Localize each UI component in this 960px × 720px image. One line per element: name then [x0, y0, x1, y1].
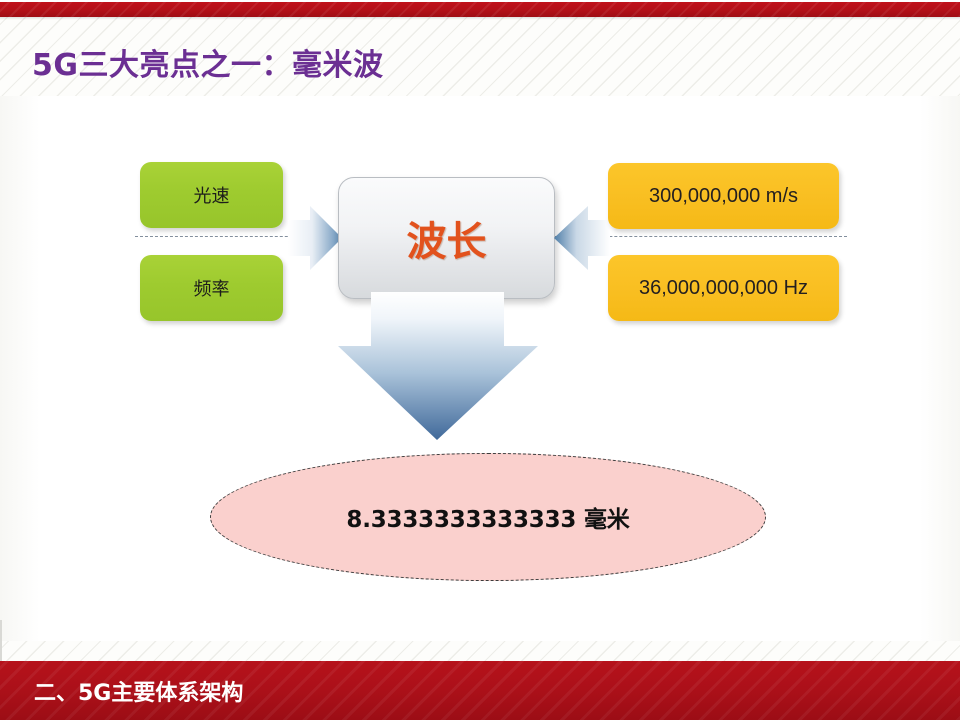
footer-bar: 二、5G主要体系架构 [0, 661, 960, 720]
center-concept-label: 波长 [407, 209, 487, 267]
input-box-light-speed[interactable]: 光速 [140, 162, 283, 228]
input-box-frequency[interactable]: 频率 [140, 255, 283, 321]
footer-section-label: 二、5G主要体系架构 [34, 675, 243, 707]
top-accent-bar-shadow [0, 17, 960, 20]
value-box-speed-label: 300,000,000 m/s [649, 185, 798, 208]
arrow-right-icon [288, 206, 342, 270]
arrow-left-icon [554, 206, 610, 270]
input-box-light-speed-label: 光速 [194, 182, 230, 208]
panel-fade-right [920, 96, 960, 641]
panel-left-edge [0, 620, 2, 662]
slide-title: 5G三大亮点之一：毫米波 [32, 40, 384, 84]
arrow-down-icon [338, 292, 538, 440]
panel-fade-left [0, 96, 40, 641]
value-box-frequency-label: 36,000,000,000 Hz [639, 277, 808, 300]
top-accent-bar [0, 2, 960, 17]
input-box-frequency-label: 频率 [194, 275, 230, 301]
center-concept-box[interactable]: 波长 [338, 177, 555, 299]
value-box-speed[interactable]: 300,000,000 m/s [608, 163, 839, 229]
result-ellipse[interactable]: 8.3333333333333 毫米 [210, 453, 766, 581]
result-label: 8.3333333333333 毫米 [346, 500, 629, 534]
slide-canvas: 5G三大亮点之一：毫米波 光速 频率 波长 [0, 0, 960, 720]
value-box-frequency[interactable]: 36,000,000,000 Hz [608, 255, 839, 321]
